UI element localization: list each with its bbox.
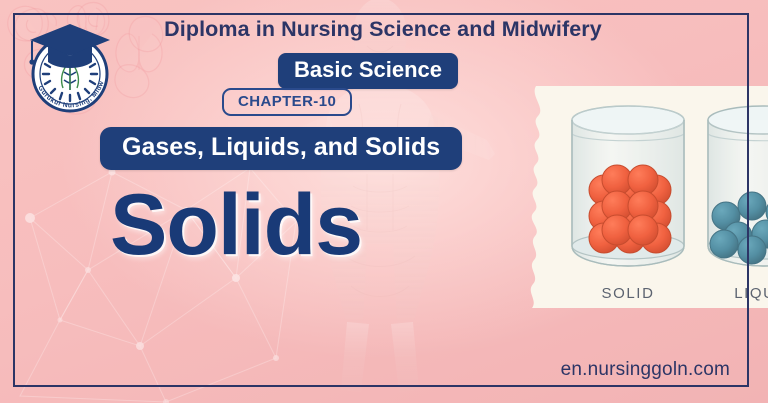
slide-canvas: Gurukul Nursing, Midwifery & Patient Car… [0, 0, 768, 403]
beaker-solid [572, 106, 684, 266]
topic-badge: Gases, Liquids, and Solids [100, 127, 462, 170]
beaker-liquid [708, 106, 768, 266]
chapter-badge: CHAPTER-10 [222, 88, 352, 116]
course-title: Diploma in Nursing Science and Midwifery [118, 17, 648, 42]
institution-logo: Gurukul Nursing, Midwifery & Patient Car… [18, 18, 116, 116]
states-of-matter-illustration: SOLID LIQUID [516, 86, 768, 308]
subject-badge: Basic Science [278, 53, 458, 89]
beaker-label-solid: SOLID [601, 285, 654, 302]
page-title: Solids [110, 182, 510, 268]
site-url: en.nursinggoln.com [561, 359, 730, 381]
beaker-label-liquid: LIQUID [734, 285, 768, 302]
beakers-group: SOLID LIQUID [530, 94, 768, 308]
